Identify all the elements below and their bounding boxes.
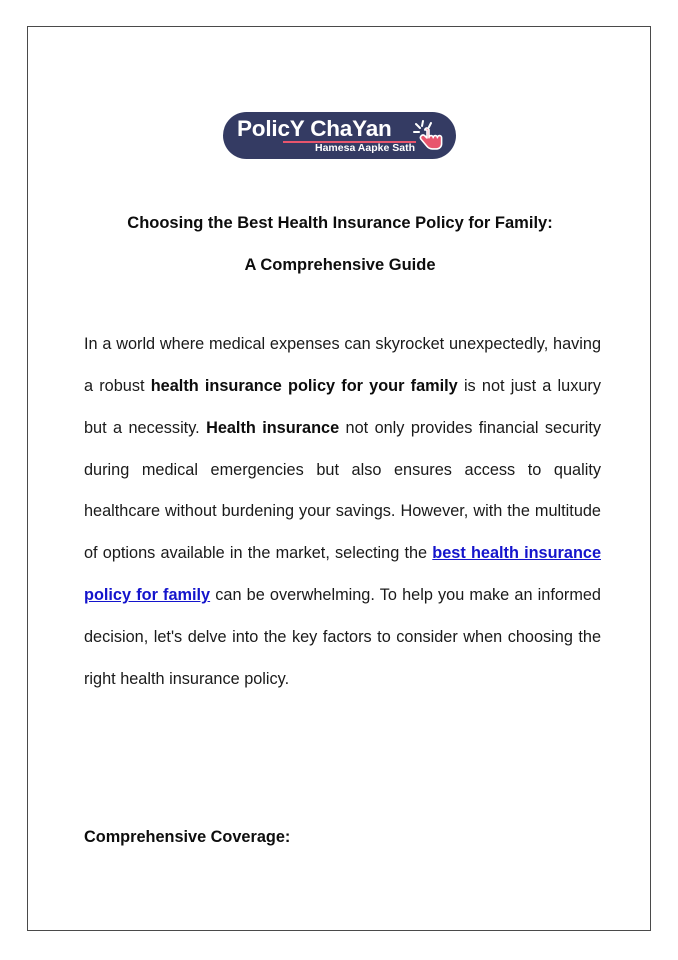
- logo-brand-text: PolicY ChaYan: [237, 116, 392, 142]
- paragraph-text-3: not only provides financial security dur…: [84, 419, 601, 562]
- page-title-line-1: Choosing the Best Health Insurance Polic…: [127, 214, 552, 232]
- click-hand-icon: [410, 116, 450, 156]
- paragraph-bold-1: health insurance policy for your family: [151, 377, 458, 395]
- section-subheading: Comprehensive Coverage:: [84, 822, 601, 852]
- paragraph-bold-2: Health insurance: [206, 419, 339, 437]
- page-title-line-2: A Comprehensive Guide: [84, 244, 596, 286]
- logo-tagline: Hamesa Aapke Sath: [315, 142, 415, 154]
- logo-pill-background: PolicY ChaYan Hamesa Aapke Sath: [223, 112, 456, 159]
- intro-paragraph: In a world where medical expenses can sk…: [84, 324, 601, 700]
- brand-logo[interactable]: PolicY ChaYan Hamesa Aapke Sath: [223, 112, 456, 159]
- document-page: PolicY ChaYan Hamesa Aapke Sath Choosing…: [27, 26, 651, 931]
- page-title: Choosing the Best Health Insurance Polic…: [84, 202, 596, 286]
